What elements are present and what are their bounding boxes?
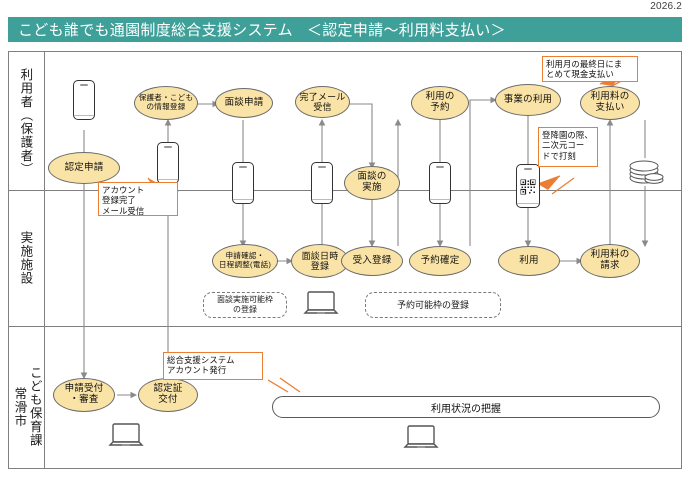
phone-icon-1: [73, 80, 95, 120]
page-title-sub: ＜認定申請～利用料支払い＞: [307, 19, 506, 40]
date-label: 2026.2: [650, 1, 682, 12]
lane-label-city: こども保育課 常滑市: [12, 366, 42, 447]
node-mendan-shinsei[interactable]: 面談申請: [215, 88, 273, 118]
node-shinsei-uketsuke-shinsa[interactable]: 申請受付 ・審査: [53, 378, 115, 412]
node-riyo[interactable]: 利用: [498, 246, 560, 276]
qr-code-icon: [521, 179, 536, 194]
phone-icon-2: [157, 142, 179, 184]
lane-label-user-main: 利用者: [18, 68, 32, 109]
page-title-main: こども誰でも通園制度総合支援システム: [18, 19, 293, 40]
node-ukeire-toroku[interactable]: 受入登録: [341, 246, 403, 276]
callout-qr-code: 登降園の際、 二次元コー ドで打刻: [538, 127, 598, 167]
lane-label-separator: [44, 51, 45, 469]
dashbox-mendan-waku[interactable]: 面談実施可能枠 の登録: [203, 292, 287, 318]
node-hogosha-joho-toroku[interactable]: 保護者・こども の情報登録: [134, 86, 198, 120]
phone-icon-3: [232, 162, 254, 204]
node-riyoryo-no-shiharai[interactable]: 利用料の 支払い: [580, 86, 640, 120]
phone-icon-4: [311, 162, 333, 204]
lane-label-facility-main: 実施施設: [18, 231, 32, 285]
node-kanryo-mail-jushin[interactable]: 完了メール 受信: [295, 86, 350, 118]
phone-icon-5: [429, 162, 451, 204]
phone-qr-icon: [516, 164, 540, 208]
node-nitteisho-kofu[interactable]: 認定証 交付: [138, 378, 198, 412]
lane-label-city-sub: 常滑市: [12, 366, 26, 447]
lane-divider-facility-city: [8, 326, 682, 327]
lane-label-user: 利用者（保護者）: [18, 62, 32, 182]
roundbox-riyo-jokyo[interactable]: 利用状況の把握: [272, 396, 660, 418]
node-ninteishinsei[interactable]: 認定申請: [48, 152, 120, 184]
node-shinsei-kakunin[interactable]: 申請確認・ 日程調整(電話): [212, 244, 278, 278]
node-riyoryo-no-seikyu[interactable]: 利用料の 請求: [580, 244, 640, 278]
node-jigyo-no-riyo[interactable]: 事業の利用: [495, 84, 561, 116]
callout-account-mail: アカウント 登録完了 メール受信: [98, 182, 178, 216]
lane-label-facility: 実施施設: [18, 228, 32, 288]
callout-account-hakko: 総合支援システム アカウント発行: [163, 352, 263, 380]
lane-label-user-sub: （保護者）: [18, 109, 32, 177]
node-riyo-no-yoyaku[interactable]: 利用の 予約: [411, 86, 469, 120]
dashbox-yoyaku-waku[interactable]: 予約可能枠の登録: [365, 292, 501, 318]
callout-cash-payment: 利用月の最終日にま とめて現金支払い: [542, 56, 638, 82]
node-yoyaku-kakutei[interactable]: 予約確定: [409, 246, 471, 276]
page-title: こども誰でも通園制度総合支援システム ＜認定申請～利用料支払い＞: [8, 17, 682, 42]
lane-label-city-main: こども保育課: [27, 366, 41, 447]
node-mendan-jisshi[interactable]: 面談の 実施: [344, 166, 400, 200]
